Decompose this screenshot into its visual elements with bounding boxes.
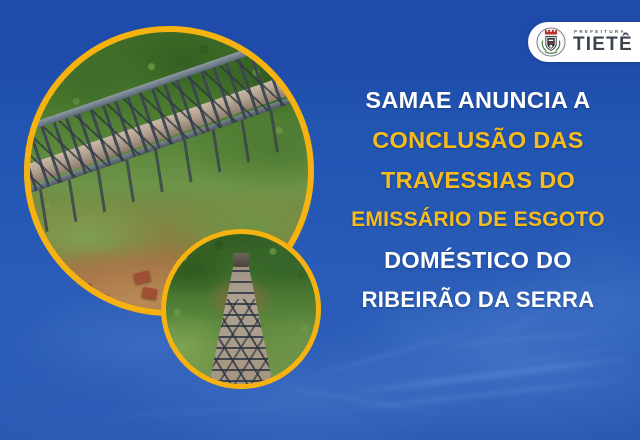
headline-line-1: SAMAE ANUNCIA A <box>322 80 634 120</box>
headline-line-6: RIBEIRÃO DA SERRA <box>322 280 634 320</box>
headline-block: SAMAE ANUNCIA A CONCLUSÃO DAS TRAVESSIAS… <box>322 80 634 320</box>
headline-line-5: DOMÉSTICO DO <box>322 240 634 280</box>
headline-line-2: CONCLUSÃO DAS <box>322 120 634 160</box>
brand-logo-plate: PREFEITURA TIETÊ <box>528 22 640 62</box>
tiete-coat-of-arms-icon <box>536 27 566 57</box>
headline-line-4: EMISSÁRIO DE ESGOTO <box>322 200 634 240</box>
secondary-photo-circle <box>161 229 321 389</box>
brand-name: TIETÊ <box>573 35 633 54</box>
poster-canvas: SAMAE ANUNCIA A CONCLUSÃO DAS TRAVESSIAS… <box>0 0 640 440</box>
walkway-structure <box>206 259 276 389</box>
headline-line-3: TRAVESSIAS DO <box>322 160 634 200</box>
brand-wordmark: PREFEITURA TIETÊ <box>573 30 633 54</box>
walkway-down-view-photo <box>161 229 321 389</box>
